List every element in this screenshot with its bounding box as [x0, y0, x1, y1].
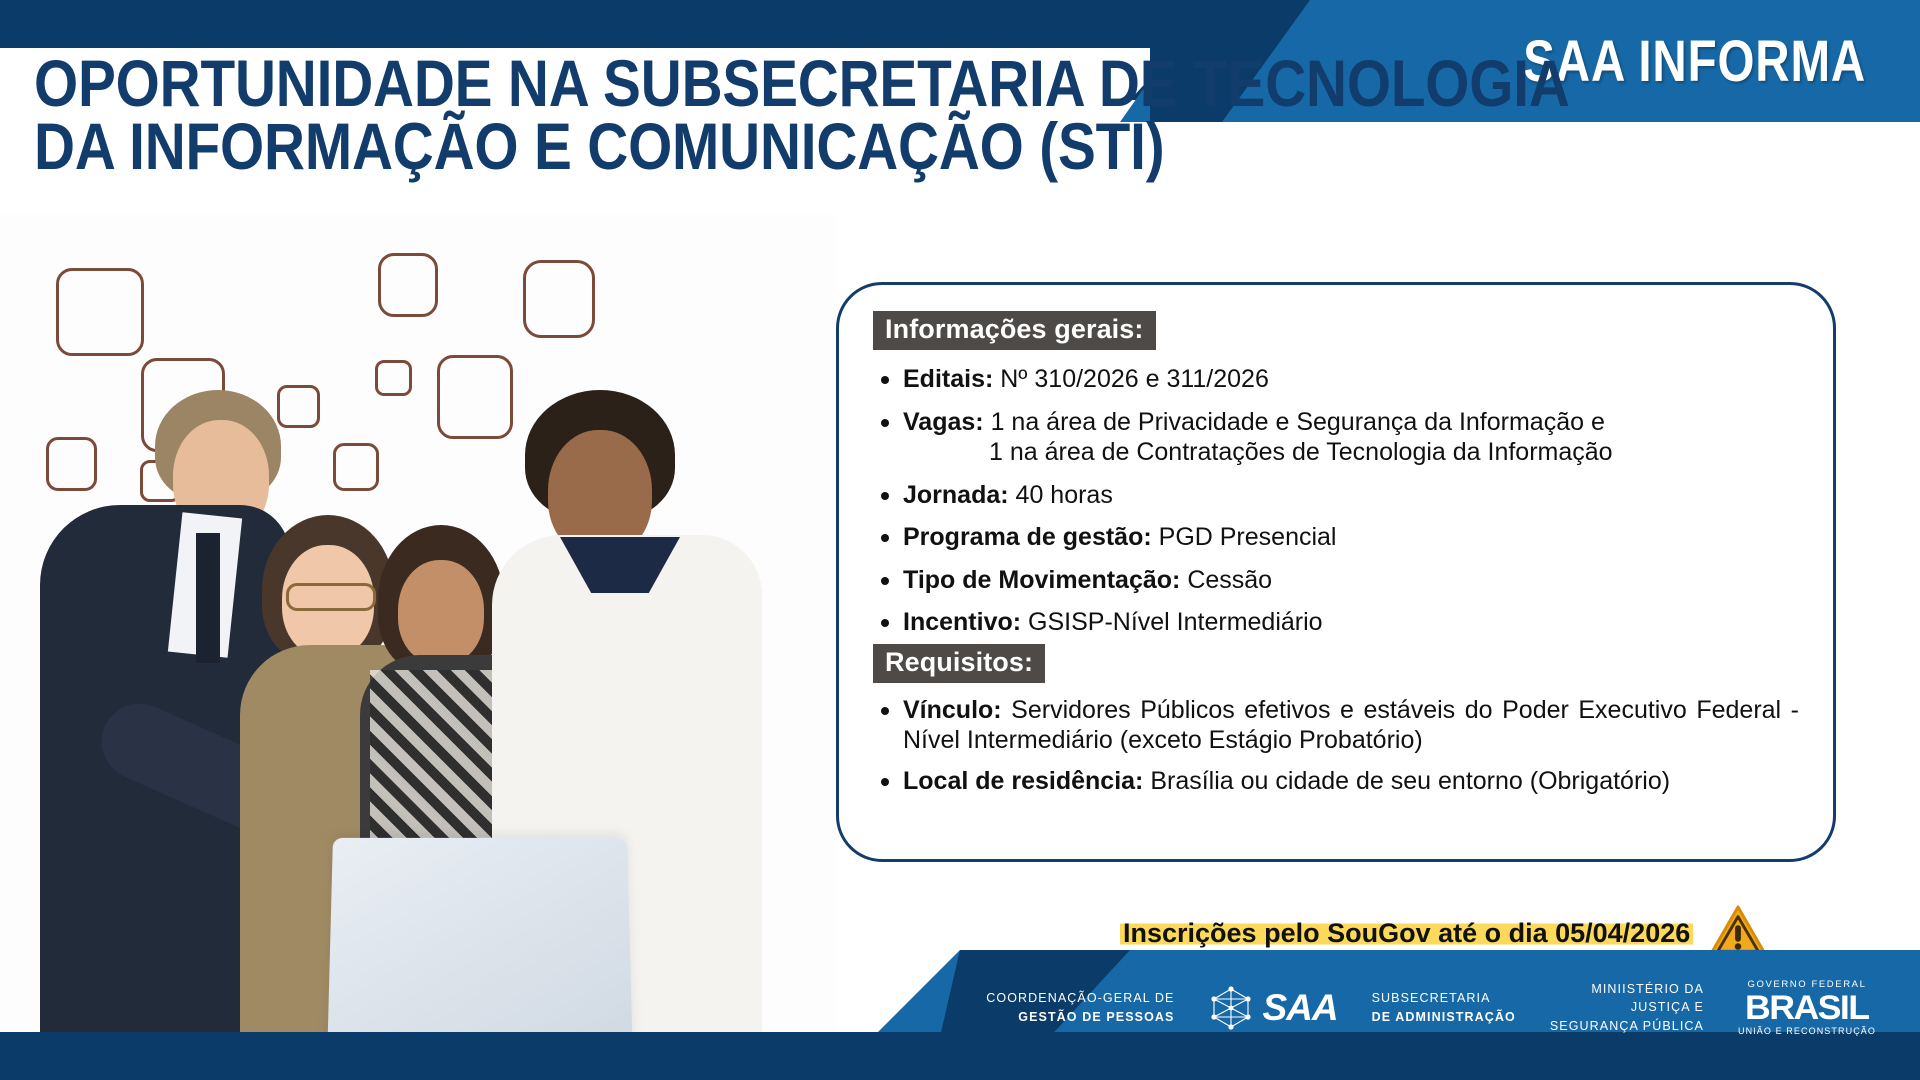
list-item-value: Cessão	[1187, 566, 1272, 594]
list-item-value: Servidores Públicos efetivos e estáveis …	[903, 696, 1799, 755]
network-polyhedron-icon	[1208, 985, 1254, 1031]
person-center-right-head	[398, 560, 484, 664]
list-item-value: GSISP-Nível Intermediário	[1028, 608, 1323, 636]
person-center-glasses	[286, 583, 376, 611]
decor-square	[333, 443, 379, 491]
list-item-label: Local de residência:	[903, 767, 1143, 795]
saa-logo: SAA	[1208, 985, 1337, 1031]
top-navy-bar	[0, 0, 1310, 48]
ministry-line-3: SEGURANÇA PÚBLICA	[1550, 1017, 1704, 1035]
subsecretaria-line-1: SUBSECRETARIA	[1372, 989, 1516, 1007]
list-item-label: Incentivo:	[903, 608, 1021, 636]
decor-square	[523, 260, 595, 338]
coordination-line-2: GESTÃO DE PESSOAS	[986, 1008, 1174, 1026]
list-item-subline: 1 na área de Contratações de Tecnologia …	[903, 437, 1799, 468]
list-item-label: Programa de gestão:	[903, 523, 1152, 551]
decor-square	[378, 253, 438, 317]
list-item: Programa de gestão: PGD Presencial	[873, 522, 1799, 553]
coordination-logo: COORDENAÇÃO-GERAL DE GESTÃO DE PESSOAS	[986, 989, 1174, 1025]
subsecretaria-line-2: DE ADMINISTRAÇÃO	[1372, 1008, 1516, 1026]
brasil-wordmark: BRASIL	[1745, 991, 1868, 1025]
info-card: Informações gerais: Editais: Nº 310/2026…	[836, 282, 1836, 862]
saa-wordmark: SAA	[1262, 987, 1337, 1029]
decor-square	[56, 268, 144, 356]
general-info-list: Editais: Nº 310/2026 e 311/2026 Vagas: 1…	[873, 364, 1799, 638]
brasil-bottom-label: UNIÃO E RECONSTRUÇÃO	[1738, 1026, 1876, 1036]
list-item: Tipo de Movimentação: Cessão	[873, 565, 1799, 596]
decor-square	[437, 355, 513, 439]
list-item: Local de residência: Brasília ou cidade …	[873, 766, 1799, 797]
list-item-label: Jornada:	[903, 481, 1009, 509]
ministry-logo: MINIISTÉRIO DA JUSTIÇA E SEGURANÇA PÚBLI…	[1550, 980, 1704, 1034]
list-item-label: Vagas:	[903, 408, 984, 436]
list-item-value: Brasília ou cidade de seu entorno (Obrig…	[1150, 767, 1670, 795]
requirements-heading: Requisitos:	[873, 644, 1045, 683]
list-item: Editais: Nº 310/2026 e 311/2026	[873, 364, 1799, 395]
decor-square	[375, 360, 412, 396]
footer-navy-band	[0, 1032, 1920, 1080]
list-item: Incentivo: GSISP-Nível Intermediário	[873, 607, 1799, 638]
requirements-list: Vínculo: Servidores Públicos efetivos e …	[873, 695, 1799, 797]
general-info-heading: Informações gerais:	[873, 311, 1156, 350]
page-title: OPORTUNIDADE NA SUBSECRETARIA DE TECNOLO…	[34, 52, 1374, 179]
footer-logos: COORDENAÇÃO-GERAL DE GESTÃO DE PESSOAS S…	[986, 979, 1876, 1036]
registration-text: Inscrições pelo SouGov até o dia 05/04/2…	[1120, 918, 1693, 949]
list-item: Jornada: 40 horas	[873, 480, 1799, 511]
team-photo	[0, 215, 836, 1080]
subsecretaria-label: SUBSECRETARIA DE ADMINISTRAÇÃO	[1372, 989, 1516, 1025]
saa-informa-label: SAA INFORMA	[1523, 28, 1866, 95]
brasil-logo: GOVERNO FEDERAL BRASIL UNIÃO E RECONSTRU…	[1738, 979, 1876, 1036]
ministry-line-2: JUSTIÇA E	[1550, 998, 1704, 1016]
list-item-label: Tipo de Movimentação:	[903, 566, 1180, 594]
list-item-label: Editais:	[903, 365, 993, 393]
list-item-value: 40 horas	[1016, 481, 1113, 509]
person-left-tie	[196, 533, 220, 663]
decor-square	[277, 385, 320, 428]
decor-square	[46, 437, 97, 491]
page-title-line-1: OPORTUNIDADE NA SUBSECRETARIA DE TECNOLO…	[34, 52, 1186, 115]
list-item: Vínculo: Servidores Públicos efetivos e …	[873, 695, 1799, 756]
poster: SAA INFORMA OPORTUNIDADE NA SUBSECRETARI…	[0, 0, 1920, 1080]
ministry-line-1: MINIISTÉRIO DA	[1550, 980, 1704, 998]
list-item: Vagas: 1 na área de Privacidade e Segura…	[873, 407, 1799, 468]
coordination-line-1: COORDENAÇÃO-GERAL DE	[986, 989, 1174, 1007]
list-item-value: PGD Presencial	[1159, 523, 1337, 551]
list-item-label: Vínculo:	[903, 696, 1002, 724]
list-item-value: Nº 310/2026 e 311/2026	[1000, 365, 1269, 393]
page-title-line-2: DA INFORMAÇÃO E COMUNICAÇÃO (STI)	[34, 115, 1186, 178]
list-item-value: 1 na área de Privacidade e Segurança da …	[991, 408, 1605, 436]
